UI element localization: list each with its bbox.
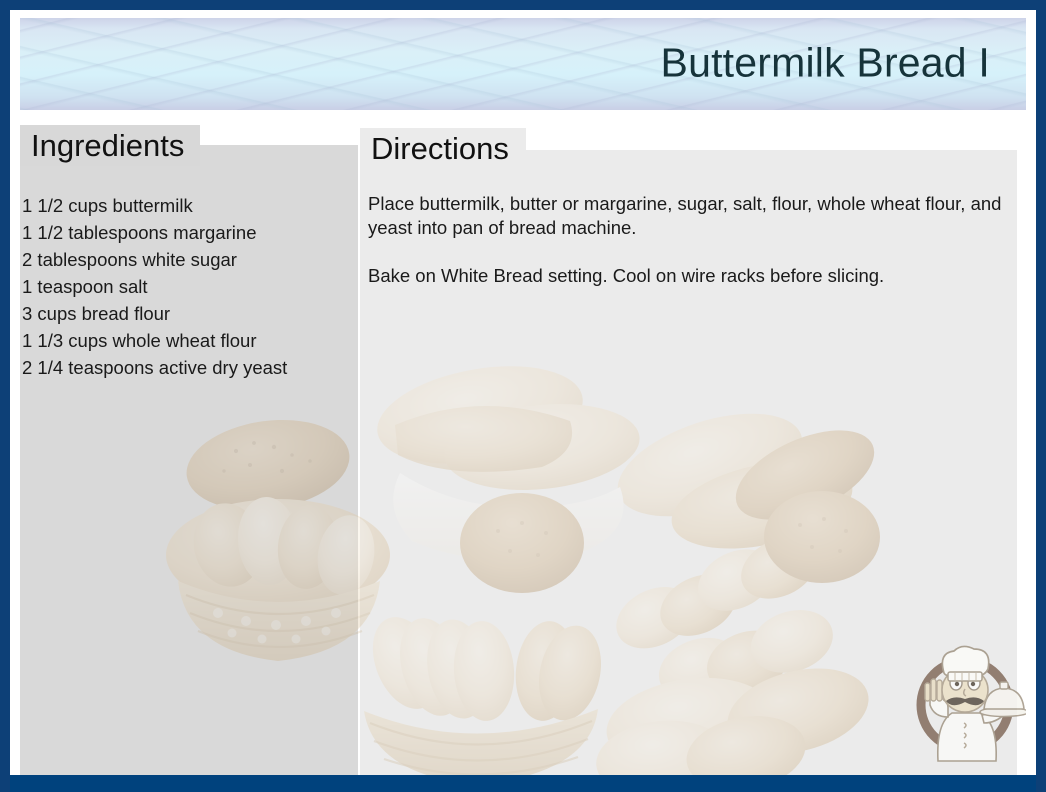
list-item: 1 1/3 cups whole wheat flour — [22, 327, 352, 354]
ingredients-heading: Ingredients — [20, 130, 184, 161]
tab-directions[interactable]: Directions — [360, 128, 526, 169]
list-item: 1 1/2 tablespoons margarine — [22, 219, 352, 246]
direction-step: Place buttermilk, butter or margarine, s… — [368, 192, 1016, 240]
list-item: 1 teaspoon salt — [22, 273, 352, 300]
border-top — [0, 0, 1046, 10]
list-item: 3 cups bread flour — [22, 300, 352, 327]
ingredient-list: 1 1/2 cups buttermilk 1 1/2 tablespoons … — [22, 192, 352, 381]
recipe-slide: Buttermilk Bread I — [0, 0, 1046, 792]
list-item: 1 1/2 cups buttermilk — [22, 192, 352, 219]
border-bottom — [0, 775, 1046, 792]
directions-body: Place buttermilk, butter or margarine, s… — [368, 192, 1016, 288]
page-title: Buttermilk Bread I — [661, 40, 990, 87]
list-item: 2 tablespoons white sugar — [22, 246, 352, 273]
list-item: 2 1/4 teaspoons active dry yeast — [22, 354, 352, 381]
direction-step: Bake on White Bread setting. Cool on wir… — [368, 264, 1016, 288]
border-left — [0, 0, 10, 792]
tab-ingredients[interactable]: Ingredients — [20, 125, 200, 166]
directions-heading: Directions — [360, 133, 509, 164]
header-banner: Buttermilk Bread I — [20, 18, 1026, 110]
chef-logo-icon — [908, 643, 1026, 763]
border-right — [1036, 0, 1046, 792]
